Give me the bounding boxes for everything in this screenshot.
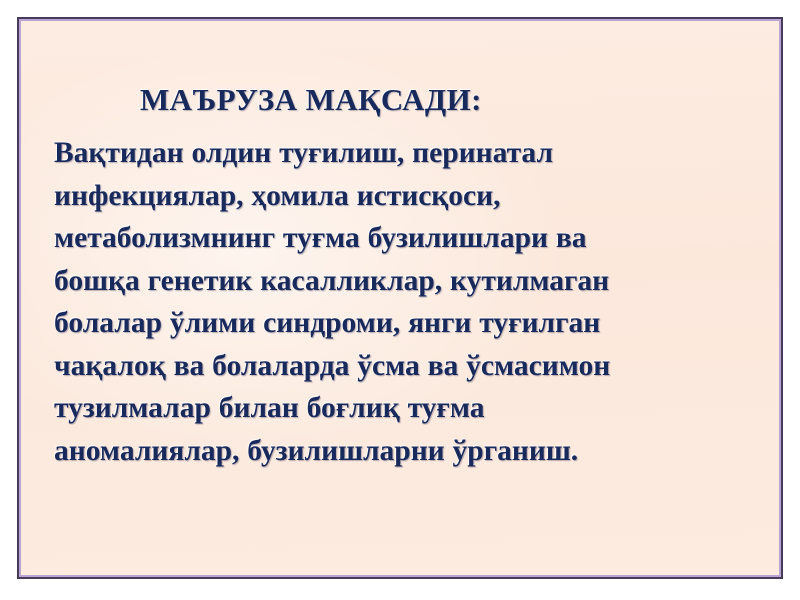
body-line: бошқа генетик касалликлар, кутилмаган (54, 260, 754, 303)
slide-border-inner: МАЪРУЗА МАҚСАДИ: Вақтидан олдин туғилиш,… (21, 21, 779, 575)
body-line: инфекциялар, ҳомила истисқоси, (54, 175, 754, 218)
body-line: аномалиялар, бузилишларни ўрганиш. (54, 430, 754, 473)
slide-border-outer: МАЪРУЗА МАҚСАДИ: Вақтидан олдин туғилиш,… (17, 17, 783, 579)
slide-content-area: МАЪРУЗА МАҚСАДИ: Вақтидан олдин туғилиш,… (21, 21, 779, 575)
slide-body-text: Вақтидан олдин туғилиш, перинатал инфекц… (54, 132, 754, 472)
slide-title: МАЪРУЗА МАҚСАДИ: (140, 80, 482, 120)
body-line: чақалоқ ва болаларда ўсма ва ўсмасимон (54, 345, 754, 388)
slide-root: МАЪРУЗА МАҚСАДИ: Вақтидан олдин туғилиш,… (0, 0, 800, 600)
body-line: Вақтидан олдин туғилиш, перинатал (54, 132, 754, 175)
body-line: болалар ўлими синдроми, янги туғилган (54, 302, 754, 345)
body-line: метаболизмнинг туғма бузилишлари ва (54, 217, 754, 260)
body-line: тузилмалар билан боғлиқ туғма (54, 387, 754, 430)
